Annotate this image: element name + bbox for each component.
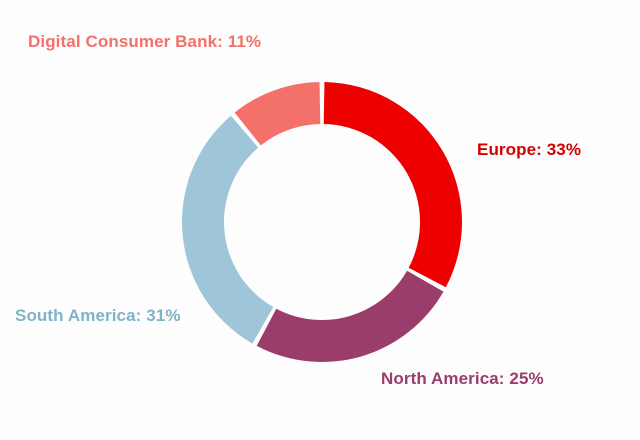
donut-slice-group (182, 82, 462, 362)
donut-chart: Digital Consumer Bank: 11% Europe: 33% N… (0, 0, 640, 440)
slice-label-north-america: North America: 25% (381, 370, 544, 387)
slice-label-europe: Europe: 33% (477, 141, 581, 158)
donut-slice-north-america[interactable] (257, 271, 444, 362)
donut-slice-europe[interactable] (324, 82, 462, 287)
slice-label-south-america: South America: 31% (15, 307, 181, 324)
donut-chart-svg (0, 0, 640, 440)
donut-slice-south-america[interactable] (182, 116, 273, 344)
slice-label-digital-consumer-bank: Digital Consumer Bank: 11% (28, 33, 261, 50)
